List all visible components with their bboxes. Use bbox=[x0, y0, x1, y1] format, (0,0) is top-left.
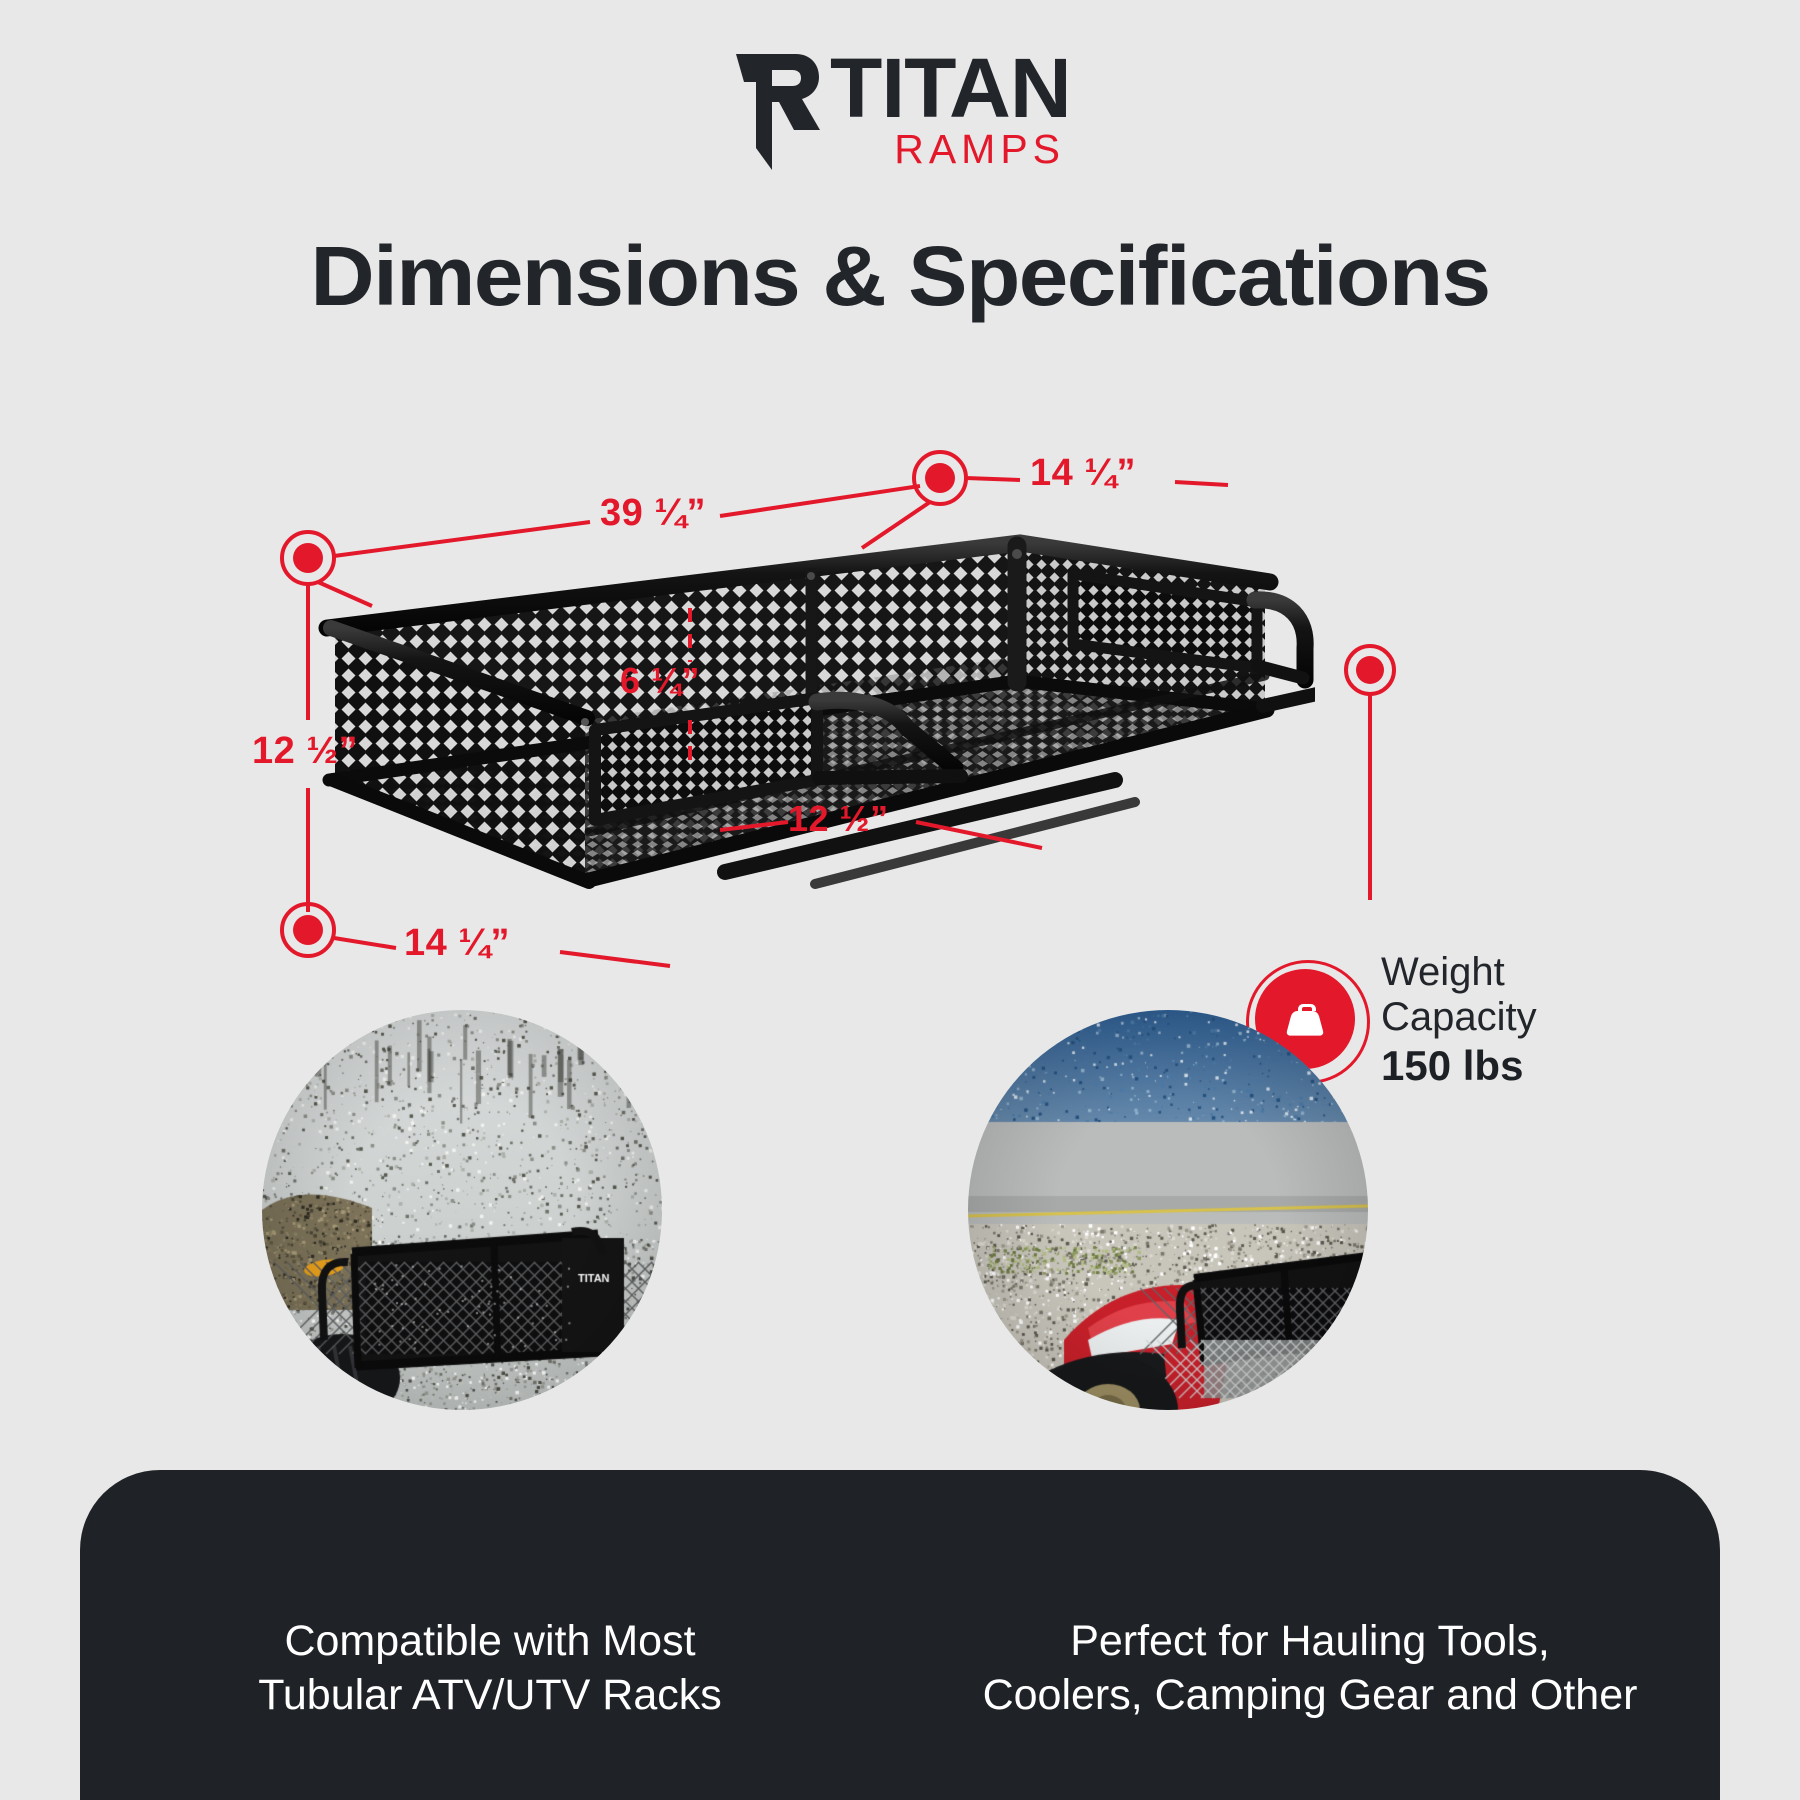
titan-r-monogram-icon bbox=[734, 52, 820, 170]
feature-caption-left-line2: Tubular ATV/UTV Racks bbox=[258, 1668, 722, 1722]
dimension-label-inner-height: 6 ¼” bbox=[620, 660, 700, 702]
cargo-basket-illustration bbox=[255, 480, 1315, 950]
camo-atv-with-cargo-basket-photo bbox=[262, 1010, 662, 1410]
feature-caption-right-line2: Coolers, Camping Gear and Other bbox=[983, 1668, 1638, 1722]
brand-logo: TITAN RAMPS bbox=[0, 52, 1800, 170]
weight-kettlebell-icon bbox=[1277, 991, 1333, 1047]
dimension-label-length-top: 39 ¼” bbox=[600, 492, 706, 535]
dimension-label-width-top: 14 ¼” bbox=[1030, 452, 1136, 495]
brand-name-secondary: RAMPS bbox=[894, 129, 1065, 170]
dimension-label-width-bottom: 14 ¼” bbox=[404, 922, 510, 965]
dimension-label-height-left: 12 ½” bbox=[252, 730, 358, 773]
weight-capacity-line1: Weight bbox=[1381, 950, 1537, 995]
dimension-label-depth: 12 ½” bbox=[788, 798, 889, 840]
brand-name-primary: TITAN bbox=[830, 52, 1071, 124]
weight-capacity-line2: Capacity bbox=[1381, 995, 1537, 1040]
feature-caption-right: Perfect for Hauling Tools, Coolers, Camp… bbox=[900, 1470, 1720, 1800]
feature-caption-left: Compatible with Most Tubular ATV/UTV Rac… bbox=[80, 1470, 900, 1800]
weight-capacity-value: 150 lbs bbox=[1381, 1042, 1537, 1089]
feature-caption-right-line1: Perfect for Hauling Tools, bbox=[1070, 1614, 1550, 1668]
feature-footer-panel: Compatible with Most Tubular ATV/UTV Rac… bbox=[80, 1470, 1720, 1800]
page-title: Dimensions & Specifications bbox=[0, 228, 1800, 325]
infographic-canvas: TITAN RAMPS Dimensions & Specifications bbox=[0, 0, 1800, 1800]
feature-caption-left-line1: Compatible with Most bbox=[284, 1614, 695, 1668]
red-atv-with-cargo-basket-photo bbox=[968, 1010, 1368, 1410]
